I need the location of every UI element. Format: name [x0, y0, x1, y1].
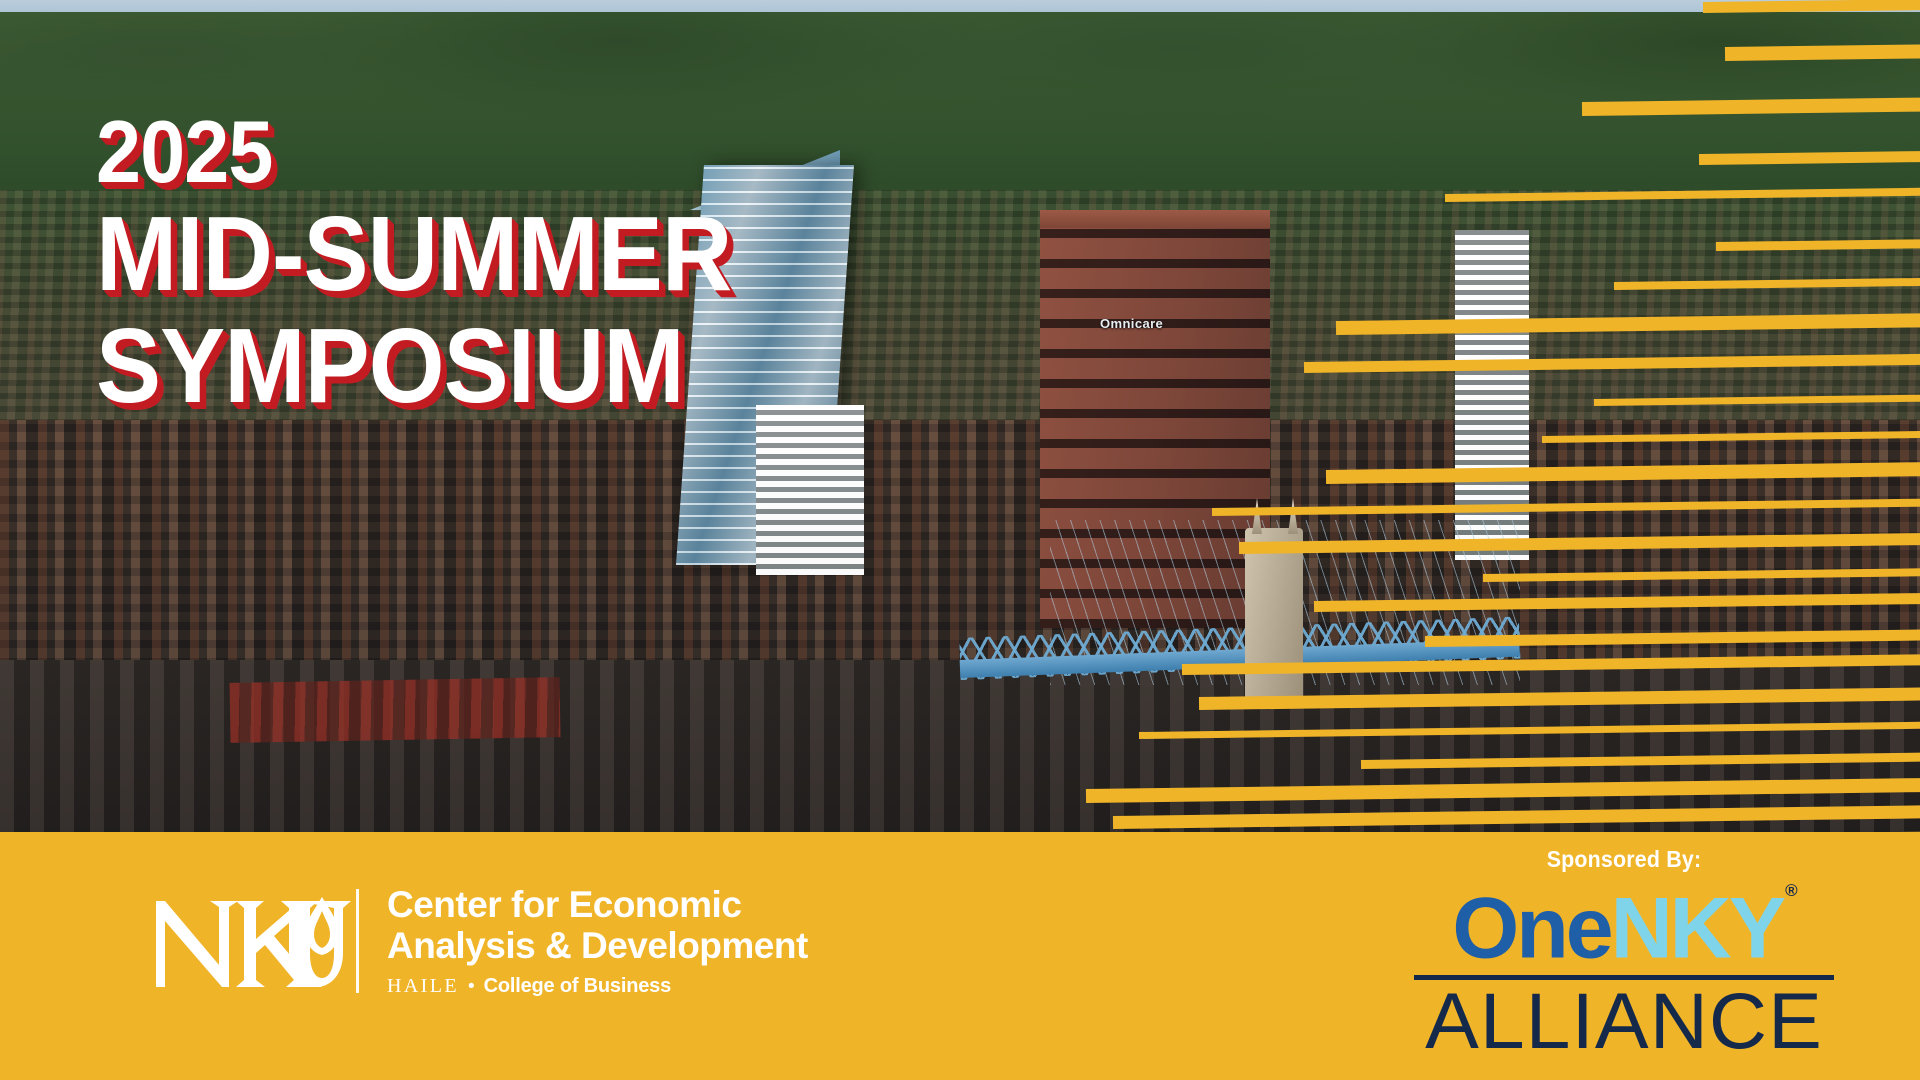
nku-logo-lockup: Center for Economic Analysis & Developme…	[152, 884, 808, 998]
sponsored-by-label: Sponsored By:	[1429, 846, 1820, 873]
title-line-symposium: SYMPOSIUM	[96, 310, 731, 422]
gold-footer-bar: Center for Economic Analysis & Developme…	[0, 832, 1920, 1080]
title-line-year: 2025	[96, 106, 731, 198]
center-name-line-2: Analysis & Development	[387, 925, 808, 966]
sponsor-logo-lockup: Sponsored By: OneNKY® ALLIANCE	[1414, 846, 1834, 1062]
onenky-one-text: One	[1452, 881, 1610, 977]
nku-divider-rule	[356, 889, 359, 993]
poster-title: 2025 MID-SUMMER SYMPOSIUM	[96, 106, 787, 422]
college-of-business-label: College of Business	[484, 975, 671, 998]
white-tower	[756, 405, 864, 575]
nku-wordmark	[152, 887, 352, 995]
symposium-poster: Omnicare 2025 MID-SUMMER SYMPOSIUM	[0, 0, 1920, 1080]
alliance-wordmark: ALLIANCE	[1410, 980, 1838, 1062]
title-line-midsummer: MID-SUMMER	[96, 198, 731, 310]
bullet-separator-icon: •	[468, 977, 475, 996]
onenky-wordmark: OneNKY®	[1414, 879, 1834, 973]
college-subline: HAILE • College of Business	[387, 975, 808, 998]
center-name-line-1: Center for Economic	[387, 884, 808, 925]
omnicare-building-sign: Omnicare	[1100, 316, 1163, 331]
nku-letters-and-flame-icon	[152, 887, 352, 995]
pale-highrise	[1455, 230, 1529, 560]
haile-label: HAILE	[387, 975, 459, 998]
red-rooftops	[230, 677, 561, 743]
registered-trademark-icon: ®	[1785, 881, 1798, 900]
onenky-nky-text: NKY	[1611, 881, 1784, 977]
center-name-block: Center for Economic Analysis & Developme…	[387, 884, 808, 998]
bridge-tower	[1245, 528, 1303, 698]
